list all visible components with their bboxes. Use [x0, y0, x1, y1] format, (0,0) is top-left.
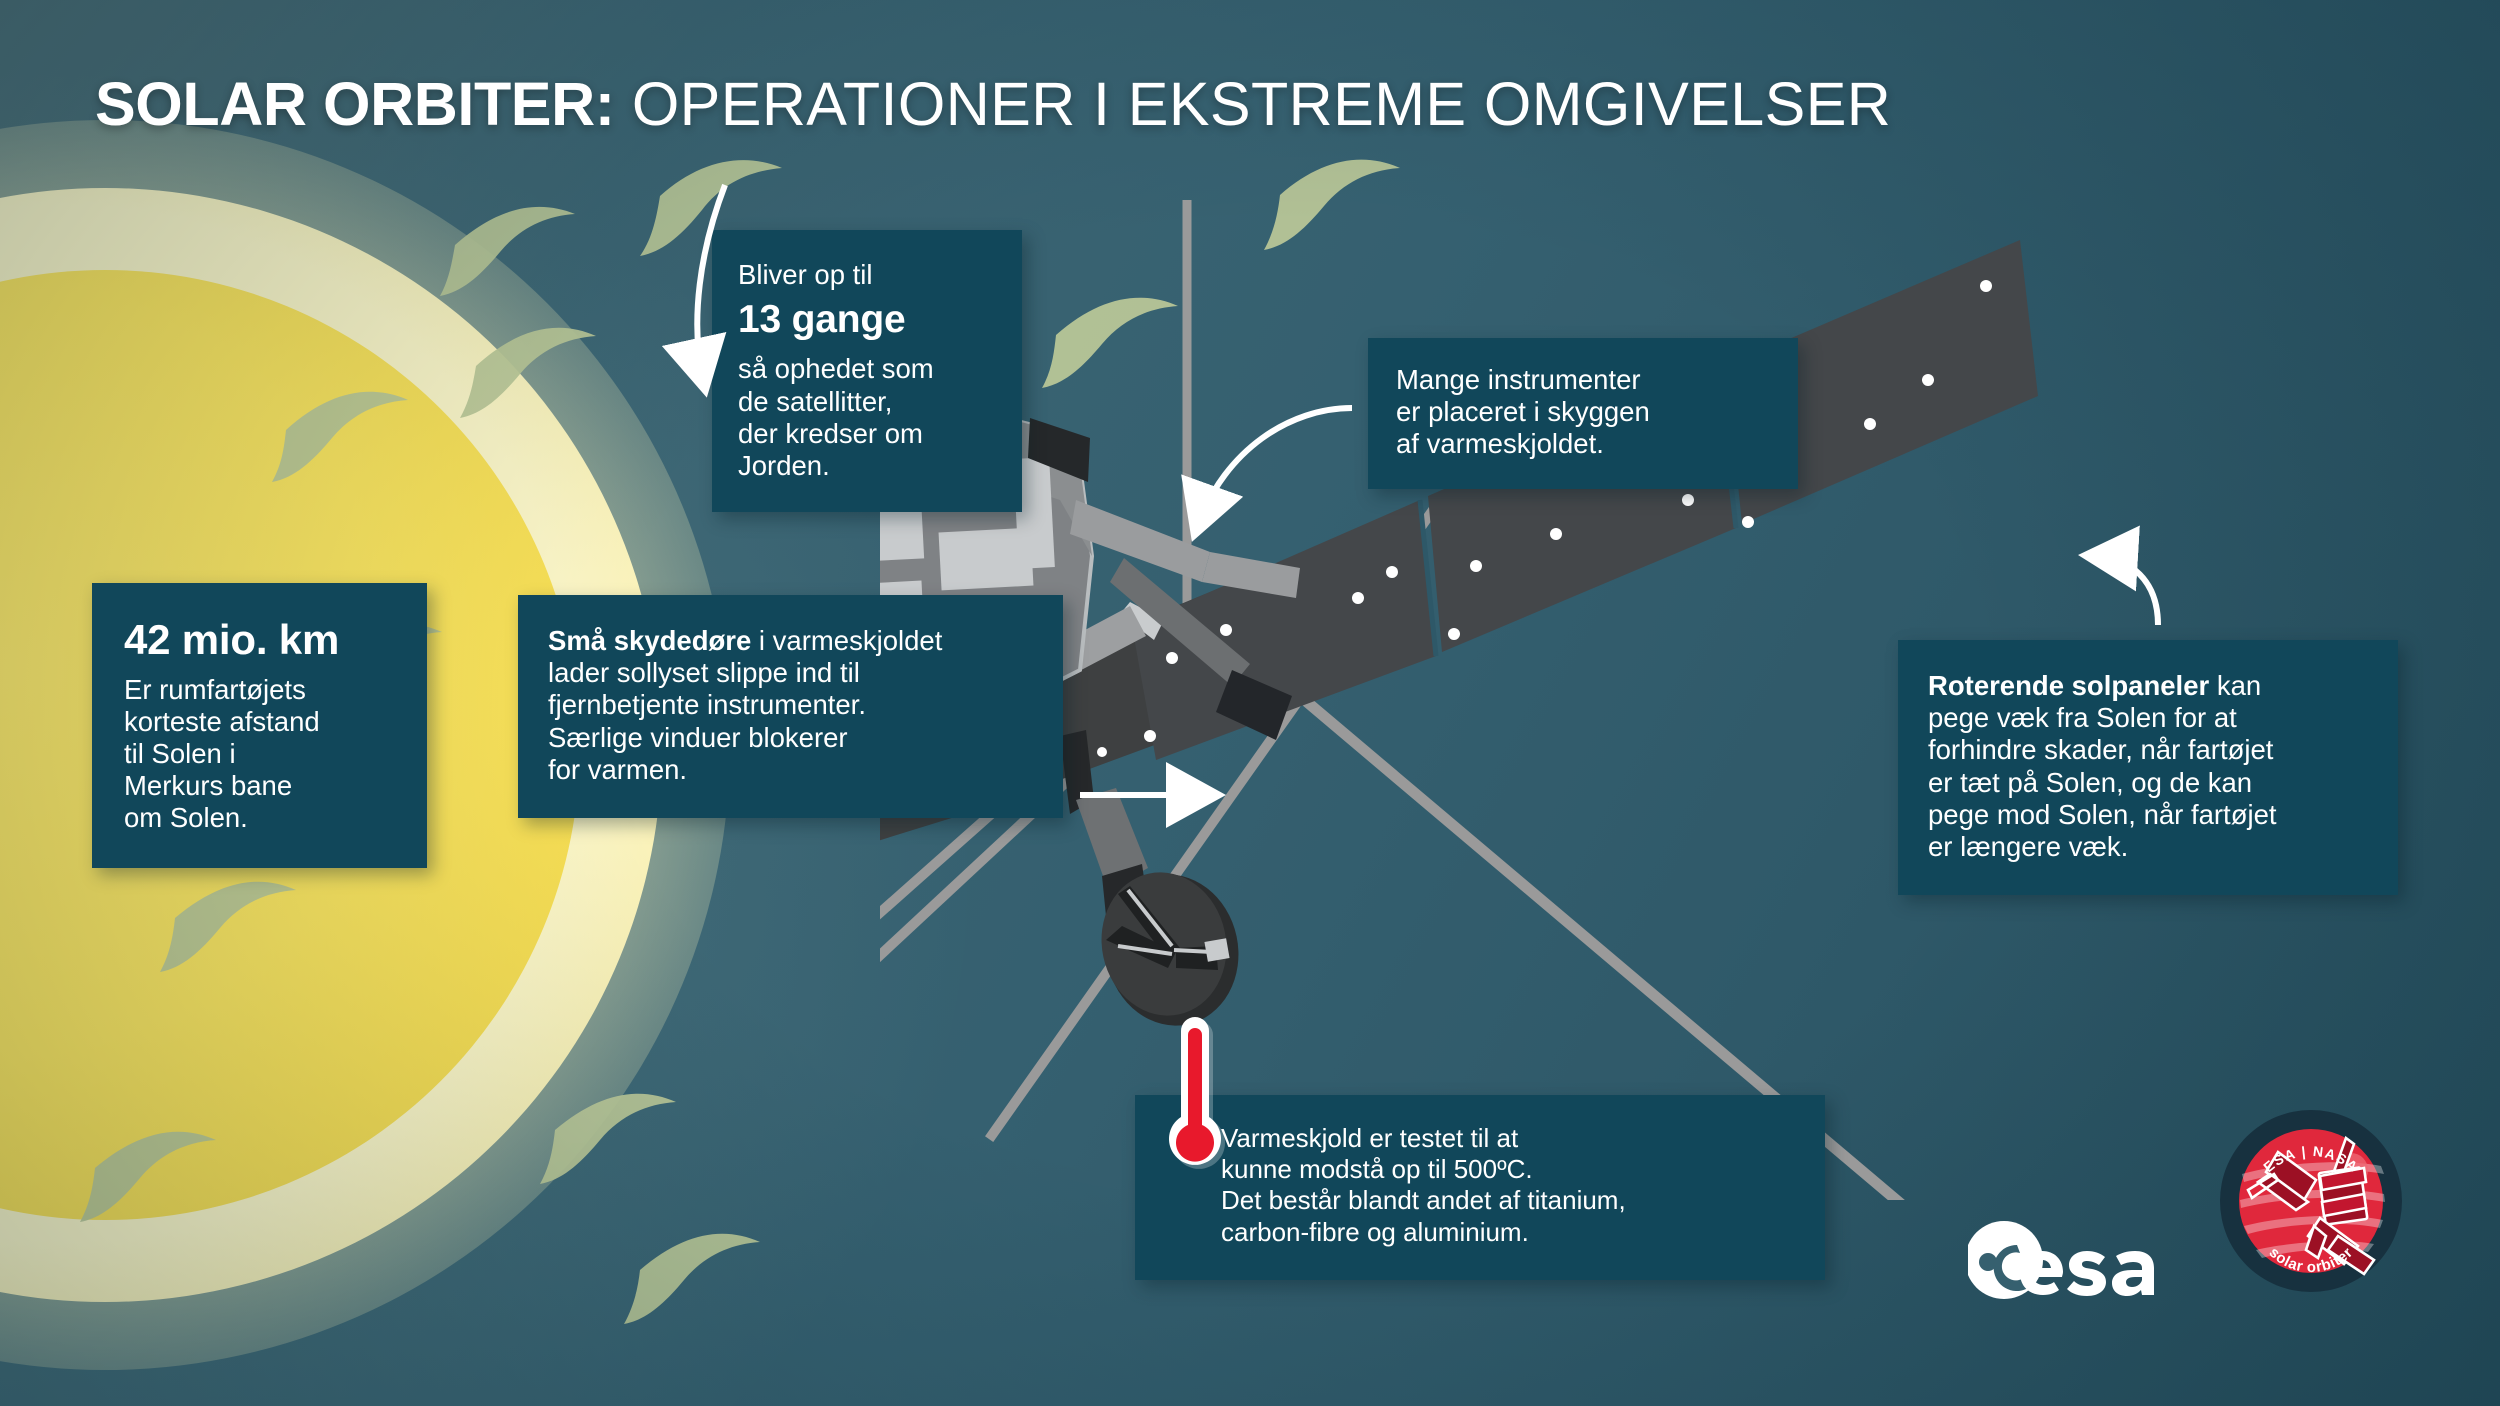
callout-solar-line4: er tæt på Solen, og de kan — [1928, 767, 2370, 799]
callout-solar-bold: Roterende solpaneler — [1928, 670, 2209, 701]
thermometer-icon — [1160, 1012, 1230, 1192]
callout-instruments-line3: af varmeskjoldet. — [1396, 428, 1772, 460]
callout-distance-line1: Er rumfartøjets — [124, 674, 397, 706]
title-normal: OPERATIONER I EKSTREME OMGIVELSER — [632, 70, 1891, 138]
callout-instruments: Mange instrumenter er placeret i skyggen… — [1368, 338, 1798, 489]
callout-heating-13x: Bliver op til 13 gange så ophedet som de… — [712, 230, 1022, 512]
callout-distance-line3: til Solen i — [124, 738, 397, 770]
mission-patch: ESA | NASA solar orbiter — [2218, 1108, 2404, 1294]
callout-shield-line1: Varmeskjold er testet til at — [1221, 1123, 1795, 1154]
callout-shield-line2: kunne modstå op til 500ºC. — [1221, 1154, 1795, 1185]
callout-heat-shield: Varmeskjold er testet til at kunne modst… — [1135, 1095, 1825, 1280]
callout-heating-line4: Jorden. — [738, 450, 996, 482]
callout-doors-line1-rest: i varmeskjoldet — [751, 625, 942, 656]
callout-shield-line4: carbon-fibre og aluminium. — [1221, 1217, 1795, 1248]
callout-doors-bold: Små skydedøre — [548, 625, 751, 656]
callout-solar-line3: forhindre skader, når fartøjet — [1928, 734, 2370, 766]
callout-distance-line4: Merkurs bane — [124, 770, 397, 802]
callout-heating-line2: de satellitter, — [738, 386, 996, 418]
esa-logo — [1968, 1215, 2173, 1310]
callout-doors-line2: lader sollyset slippe ind til — [548, 657, 1037, 689]
callout-doors-line4: Særlige vinduer blokerer — [548, 722, 1037, 754]
callout-instruments-line1: Mange instrumenter — [1396, 364, 1772, 396]
page-title: SOLAR ORBITER: OPERATIONER I EKSTREME OM… — [95, 74, 1891, 135]
title-bold: SOLAR ORBITER: — [95, 70, 615, 138]
callout-heating-line3: der kredser om — [738, 418, 996, 450]
callout-solar-line2: pege væk fra Solen for at — [1928, 702, 2370, 734]
callout-heating-line1: så ophedet som — [738, 353, 996, 385]
callout-solar-line5: pege mod Solen, når fartøjet — [1928, 799, 2370, 831]
callout-instruments-line2: er placeret i skyggen — [1396, 396, 1772, 428]
callout-distance-line5: om Solen. — [124, 802, 397, 834]
callout-shield-line3: Det består blandt andet af titanium, — [1221, 1185, 1795, 1216]
callout-solar-line6: er længere væk. — [1928, 831, 2370, 863]
callout-solar-line1-rest: kan — [2209, 670, 2261, 701]
callout-doors-line5: for varmen. — [548, 754, 1037, 786]
callout-doors-line3: fjernbetjente instrumenter. — [548, 689, 1037, 721]
callout-sliding-doors: Små skydedøre i varmeskjoldet lader soll… — [518, 595, 1063, 818]
infographic-canvas: SOLAR ORBITER: OPERATIONER I EKSTREME OM… — [0, 0, 2500, 1406]
callout-heating-value: 13 gange — [738, 295, 996, 346]
callout-distance-line2: korteste afstand — [124, 706, 397, 738]
callout-distance: 42 mio. km Er rumfartøjets korteste afst… — [92, 583, 427, 868]
callout-solar-panels: Roterende solpaneler kan pege væk fra So… — [1898, 640, 2398, 895]
callout-distance-value: 42 mio. km — [124, 613, 397, 668]
callout-heating-lead: Bliver op til — [738, 258, 996, 293]
